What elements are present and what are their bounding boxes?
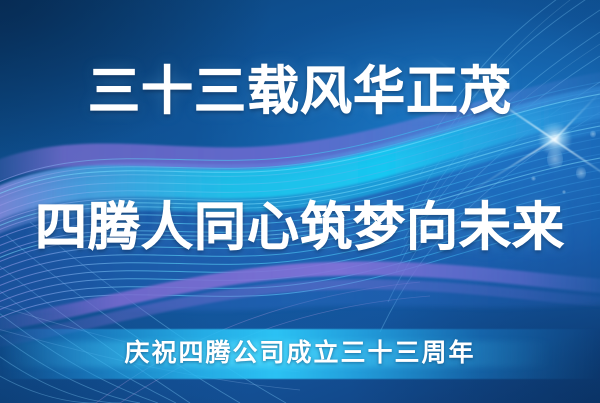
- bokeh-circle: [562, 190, 566, 194]
- anniversary-poster: 三十三载风华正茂 四腾人同心筑梦向未来 庆祝四腾公司成立三十三周年: [0, 0, 600, 403]
- bokeh-circle: [576, 166, 586, 180]
- bokeh-circle: [531, 176, 536, 181]
- bokeh-circle: [590, 130, 596, 138]
- poster-title-line-1: 三十三载风华正茂: [0, 62, 600, 122]
- poster-subtitle: 庆祝四腾公司成立三十三周年: [0, 338, 600, 370]
- poster-title-line-2: 四腾人同心筑梦向未来: [0, 198, 600, 258]
- bokeh-circle: [547, 148, 563, 170]
